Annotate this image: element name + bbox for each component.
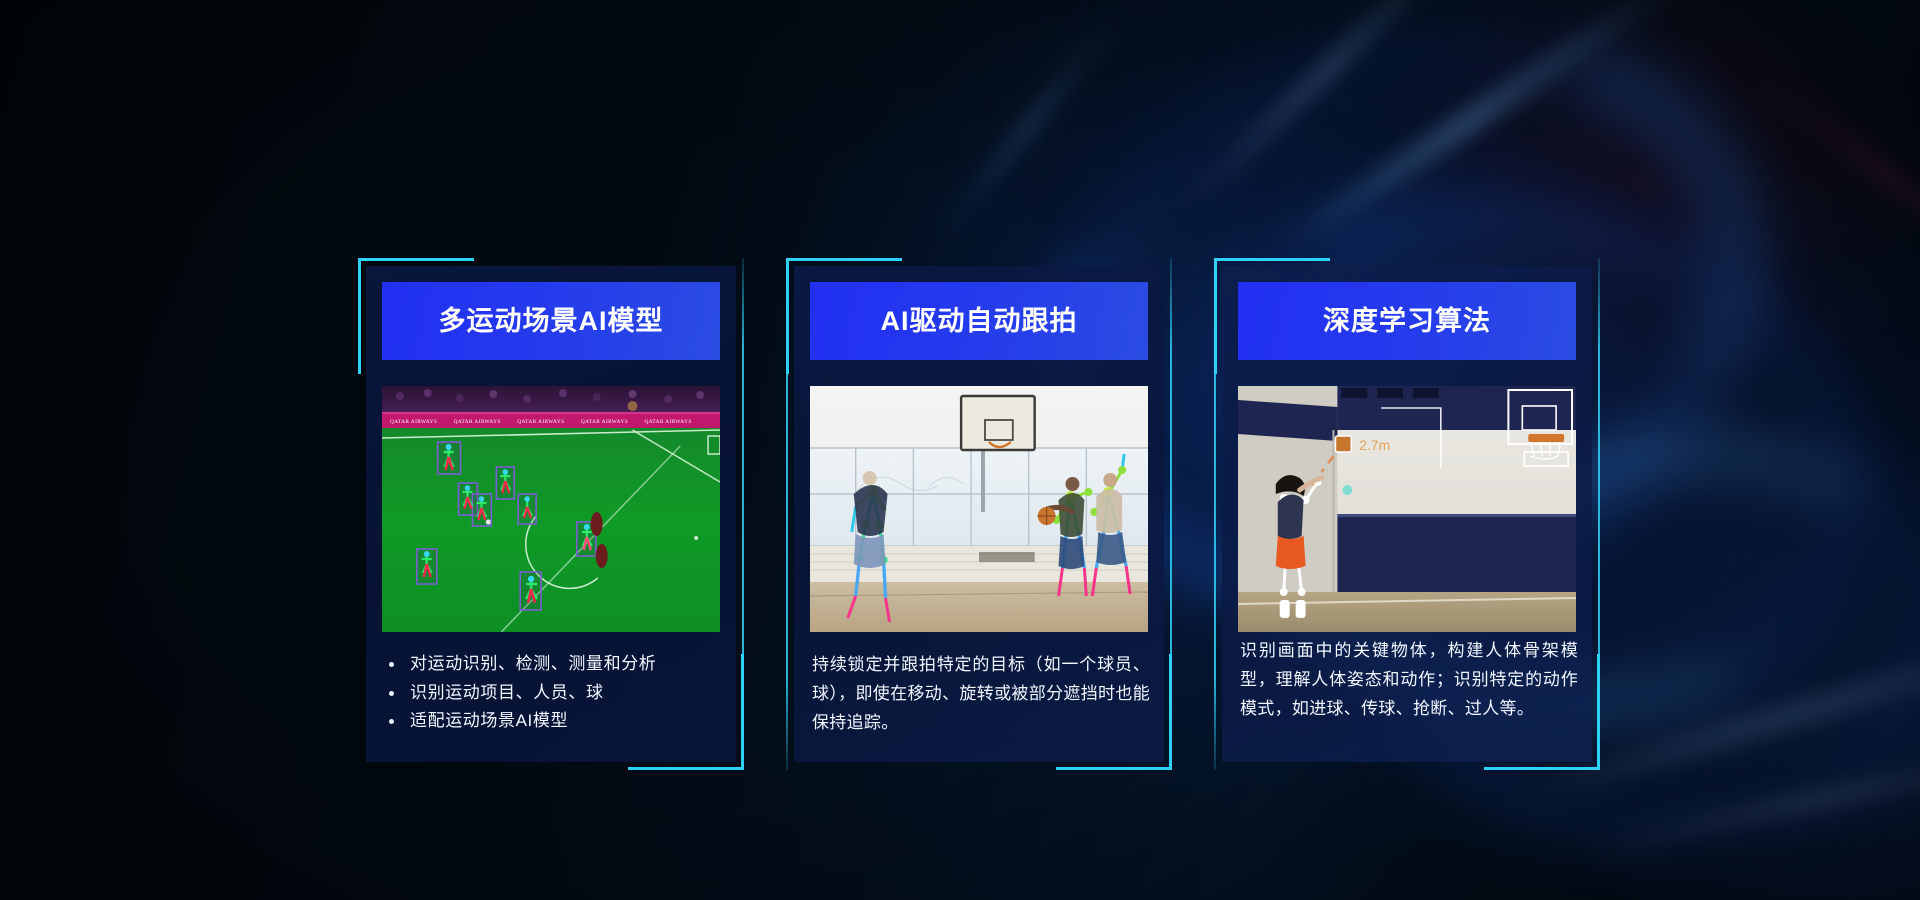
- feature-bullet-list: 对运动识别、检测、测量和分析 识别运动项目、人员、球 适配运动场景AI模型: [384, 650, 722, 736]
- basketball-pose-illustration: [810, 386, 1148, 632]
- list-item: 识别运动项目、人员、球: [384, 679, 722, 708]
- svg-text:QATAR AIRWAYS: QATAR AIRWAYS: [581, 419, 628, 425]
- card-edge-left: [786, 258, 788, 770]
- card-thumbnail-shot-trajectory[interactable]: 2.7m: [1238, 386, 1576, 632]
- card-title: 深度学习算法: [1323, 308, 1491, 335]
- card-title: AI驱动自动跟拍: [881, 308, 1078, 335]
- card-edge-left: [1214, 258, 1216, 770]
- card-header-bar: 深度学习算法: [1238, 282, 1576, 360]
- feature-description: 持续锁定并跟拍特定的目标（如一个球员、球），即使在移动、旋转或被部分遮挡时也能保…: [812, 650, 1150, 737]
- card-thumbnail-soccer-detection[interactable]: QATAR AIRWAYS QATAR AIRWAYS QATAR AIRWAY…: [382, 386, 720, 632]
- feature-card-multi-sport-ai-model[interactable]: 多运动场景AI模型: [358, 258, 744, 770]
- card-body: 持续锁定并跟拍特定的目标（如一个球员、球），即使在移动、旋转或被部分遮挡时也能保…: [812, 650, 1150, 737]
- feature-card-deep-learning-algorithm[interactable]: 深度学习算法: [1214, 258, 1600, 770]
- feature-card-row: 多运动场景AI模型: [358, 258, 1600, 770]
- list-item: 适配运动场景AI模型: [384, 707, 722, 736]
- height-annotation-label: 2.7m: [1359, 437, 1390, 453]
- svg-text:QATAR AIRWAYS: QATAR AIRWAYS: [517, 419, 564, 425]
- card-edge-right: [1170, 258, 1172, 770]
- feature-description: 识别画面中的关键物体，构建人体骨架模型，理解人体姿态和动作；识别特定的动作模式，…: [1240, 636, 1578, 723]
- card-body: 对运动识别、检测、测量和分析 识别运动项目、人员、球 适配运动场景AI模型: [384, 650, 722, 736]
- card-edge-right: [1598, 258, 1600, 770]
- svg-text:QATAR AIRWAYS: QATAR AIRWAYS: [454, 419, 501, 425]
- shot-trajectory-illustration: 2.7m: [1238, 386, 1576, 632]
- card-header-bar: AI驱动自动跟拍: [810, 282, 1148, 360]
- soccer-detection-illustration: QATAR AIRWAYS QATAR AIRWAYS QATAR AIRWAY…: [382, 386, 720, 632]
- feature-card-ai-auto-tracking[interactable]: AI驱动自动跟拍: [786, 258, 1172, 770]
- list-item: 对运动识别、检测、测量和分析: [384, 650, 722, 679]
- card-thumbnail-basketball-pose[interactable]: [810, 386, 1148, 632]
- card-header-bar: 多运动场景AI模型: [382, 282, 720, 360]
- card-title: 多运动场景AI模型: [439, 308, 664, 335]
- card-edge-right: [742, 258, 744, 770]
- svg-text:QATAR AIRWAYS: QATAR AIRWAYS: [390, 419, 437, 425]
- card-body: 识别画面中的关键物体，构建人体骨架模型，理解人体姿态和动作；识别特定的动作模式，…: [1240, 636, 1578, 723]
- svg-text:QATAR AIRWAYS: QATAR AIRWAYS: [644, 419, 691, 425]
